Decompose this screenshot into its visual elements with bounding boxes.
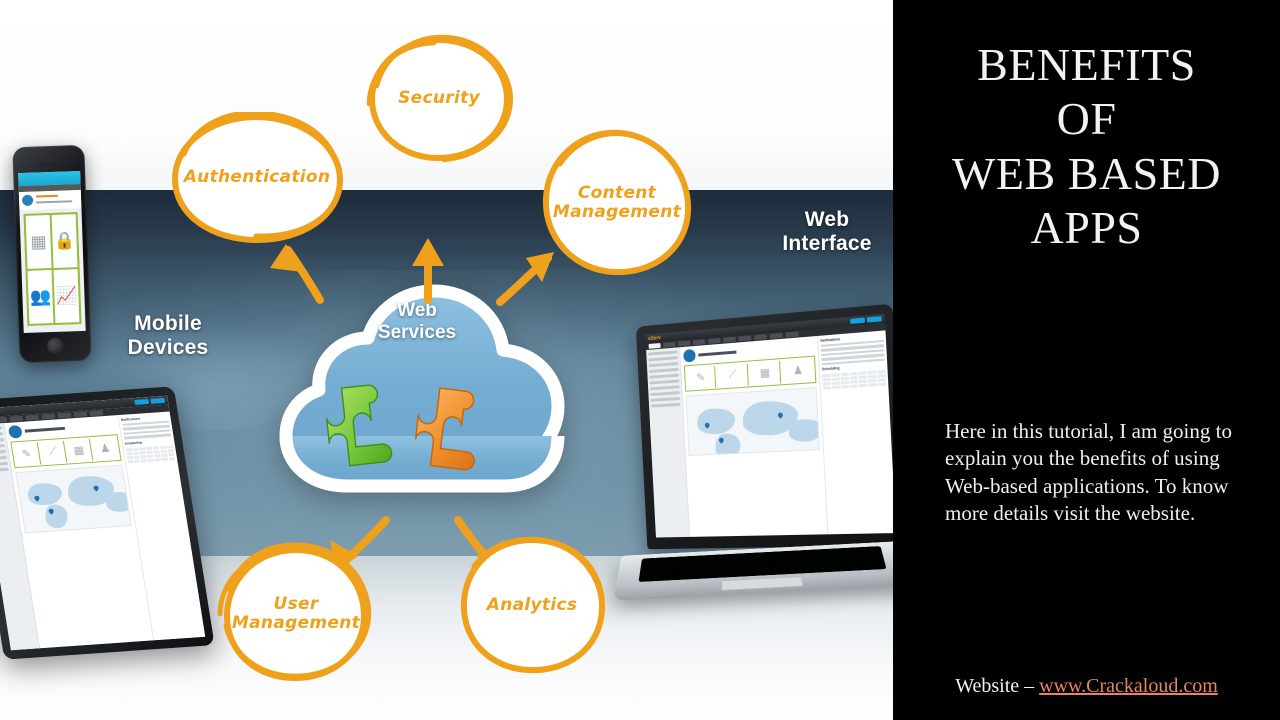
map-landmass (44, 504, 70, 529)
puzzle-pieces-icon (312, 366, 527, 486)
bubble-label: Analytics (452, 534, 612, 678)
slide-canvas: Mobile Devices Web Interface ▦ 🔒 (0, 0, 1280, 720)
group-icon: ♟ (782, 358, 814, 382)
analytics-icon: 📈 (54, 269, 80, 323)
tablet-dashboard: eServ (0, 396, 205, 651)
pulse-icon: ⟋ (39, 440, 67, 463)
map-landmass (696, 407, 735, 435)
dashboard-topbar-buttons (850, 316, 882, 324)
panel-title: BENEFITS OF WEB BASED APPS (893, 38, 1280, 255)
bubble-content-management[interactable]: Content Management (534, 128, 700, 278)
group-icon: ♟ (92, 437, 119, 460)
label-web-interface: Web Interface (762, 208, 892, 255)
pen-icon: ✎ (686, 366, 717, 390)
panel-footer: Website – www.Crackaloud.com (893, 675, 1280, 698)
laptop-dashboard: eServ (645, 314, 893, 538)
bar-chart-icon: ▦ (26, 215, 52, 269)
panel-description: Here in this tutorial, I am going to exp… (945, 418, 1245, 527)
tablet-screen: eServ (0, 396, 205, 651)
phone-camera (47, 156, 52, 161)
phone-avatar (22, 195, 33, 206)
laptop-device: eServ (604, 309, 893, 634)
panel-title-line-3: WEB BASED (893, 147, 1280, 201)
cloud-label-line1: Web (252, 300, 582, 322)
label-mobile-devices-line2: Devices (108, 336, 228, 360)
bubble-label: Content Management (534, 128, 700, 278)
laptop-base (613, 541, 893, 601)
map-landmass (788, 418, 820, 442)
calendar-widget (822, 370, 886, 390)
bubble-label-text: User Management (232, 595, 360, 633)
dashboard-avatar (8, 425, 23, 439)
bubble-analytics[interactable]: Analytics (452, 534, 612, 678)
dashboard-main: ✎ ⟋ ▦ ♟ (680, 336, 828, 537)
pulse-icon: ⟋ (717, 363, 748, 387)
phone-user-name (36, 200, 72, 203)
dashboard-tile-row: ✎ ⟋ ▦ ♟ (10, 434, 121, 468)
cloud-label: Web Services (252, 300, 582, 345)
bar-chart-icon: ▦ (749, 361, 781, 385)
map-landmass (105, 491, 132, 513)
phone-screen: ▦ 🔒 👥 📈 (18, 171, 86, 333)
smartphone-device: ▦ 🔒 👥 📈 (12, 145, 91, 363)
dashboard-body: ✎ ⟋ ▦ ♟ (646, 330, 893, 537)
bubble-label: Security (364, 34, 514, 164)
people-icon: 👥 (28, 270, 54, 324)
dashboard-body: ✎ ⟋ ▦ ♟ (0, 412, 205, 651)
laptop-keyboard (638, 546, 886, 582)
web-services-cloud: Web Services (252, 258, 582, 518)
scheduling-heading: Scheduling (124, 438, 172, 445)
dashboard-world-map (685, 387, 820, 456)
lock-icon: 🔒 (52, 214, 78, 268)
dashboard-rightrail: Notifications Scheduling (817, 330, 893, 534)
laptop-trackpad (721, 576, 803, 590)
dashboard-logo: eServ (648, 335, 661, 342)
panel-title-line-4: APPS (893, 201, 1280, 255)
bubble-label: User Management (216, 542, 376, 686)
label-mobile-devices-line1: Mobile (108, 312, 228, 336)
bubble-user-management[interactable]: User Management (216, 542, 376, 686)
panel-title-line-2: OF (893, 92, 1280, 146)
label-web-interface-line1: Web (762, 208, 892, 232)
bubble-label-text: Content Management (553, 184, 681, 222)
website-link[interactable]: www.Crackaloud.com (1039, 675, 1218, 697)
phone-user-brand (36, 195, 58, 198)
phone-user-row (19, 190, 82, 210)
bubble-security[interactable]: Security (364, 34, 514, 164)
bar-chart-icon: ▦ (66, 439, 94, 462)
map-landmass (26, 482, 63, 506)
map-landmass (714, 433, 740, 456)
dashboard-world-map (15, 465, 131, 534)
laptop-screen: eServ (645, 314, 893, 538)
phone-home-button (47, 338, 64, 355)
dashboard-username (25, 427, 66, 433)
bubble-label: Authentication (168, 112, 346, 244)
label-mobile-devices: Mobile Devices (108, 312, 228, 359)
bubble-authentication[interactable]: Authentication (168, 112, 346, 244)
background-dark-band (0, 190, 893, 260)
pen-icon: ✎ (13, 442, 41, 465)
calendar-widget (125, 445, 175, 463)
dashboard-topbar-buttons (134, 398, 165, 405)
label-web-interface-line2: Interface (762, 232, 892, 256)
panel-title-line-1: BENEFITS (893, 38, 1280, 92)
phone-tile-grid: ▦ 🔒 👥 📈 (24, 212, 82, 326)
phone-speaker (39, 163, 59, 167)
illustration-panel: Mobile Devices Web Interface ▦ 🔒 (0, 0, 893, 720)
text-panel: BENEFITS OF WEB BASED APPS Here in this … (893, 0, 1280, 720)
cloud-label-line2: Services (252, 322, 582, 344)
dashboard-avatar (683, 349, 696, 363)
dashboard-username (698, 351, 736, 357)
website-label: Website – (955, 675, 1039, 697)
laptop-lid: eServ (636, 304, 893, 550)
